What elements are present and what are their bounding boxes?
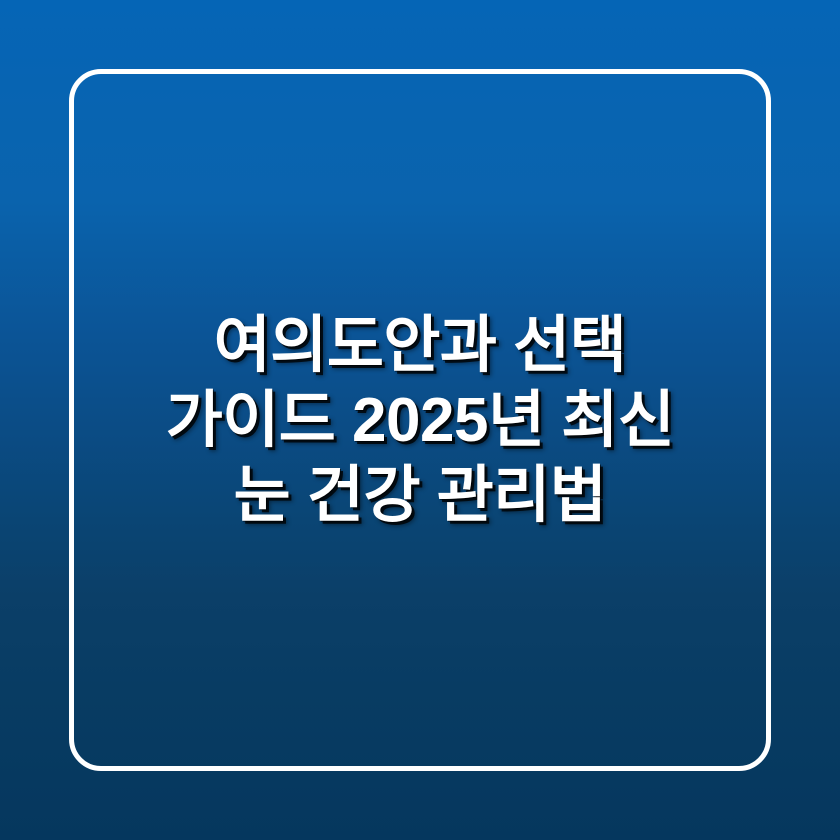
poster-canvas: 여의도안과 선택 가이드 2025년 최신 눈 건강 관리법 <box>0 0 840 840</box>
headline-line-1: 여의도안과 선택 <box>214 308 627 383</box>
headline-line-2: 가이드 2025년 최신 <box>166 383 675 458</box>
headline-block: 여의도안과 선택 가이드 2025년 최신 눈 건강 관리법 <box>0 0 840 840</box>
headline-line-3: 눈 건강 관리법 <box>234 458 607 533</box>
